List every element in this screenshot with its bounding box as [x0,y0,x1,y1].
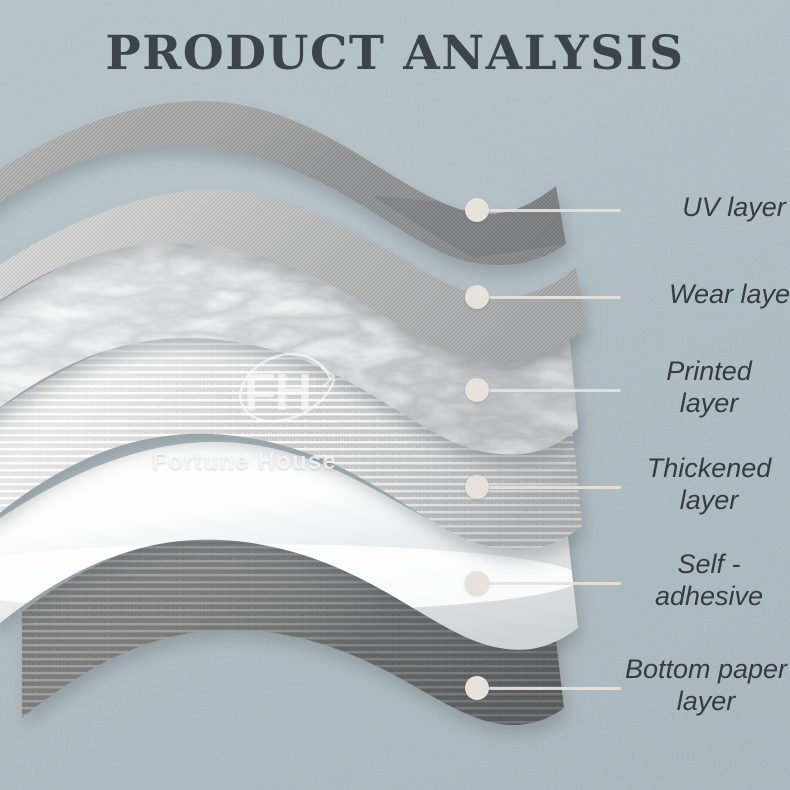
leader-dot-self-adhesive [465,571,489,595]
leader-dot-thickened [465,475,489,499]
label-bottom-paper-layer: Bottom paper layer [622,654,790,718]
leader-line-self-adhesive [489,582,621,585]
leader-dot-wear [465,285,489,309]
leader-dot-bottom-paper [465,676,489,700]
leader-line-bottom-paper [489,687,621,690]
leader-line-uv [489,209,621,212]
label-printed-layer: Printed layer [634,356,784,420]
label-wear-layer: Wear layer [634,279,790,311]
leader-line-printed [489,389,621,392]
leader-dot-uv [465,198,489,222]
leader-dot-printed [465,378,489,402]
label-uv-layer: UV layer [634,192,790,224]
leader-line-wear [489,296,621,299]
label-thickened-layer: Thickened layer [628,453,790,517]
label-self-adhesive: Self - adhesive [634,549,784,613]
leader-line-thickened [489,486,621,489]
product-analysis-infographic: PRODUCT ANALYSIS [0,0,790,790]
